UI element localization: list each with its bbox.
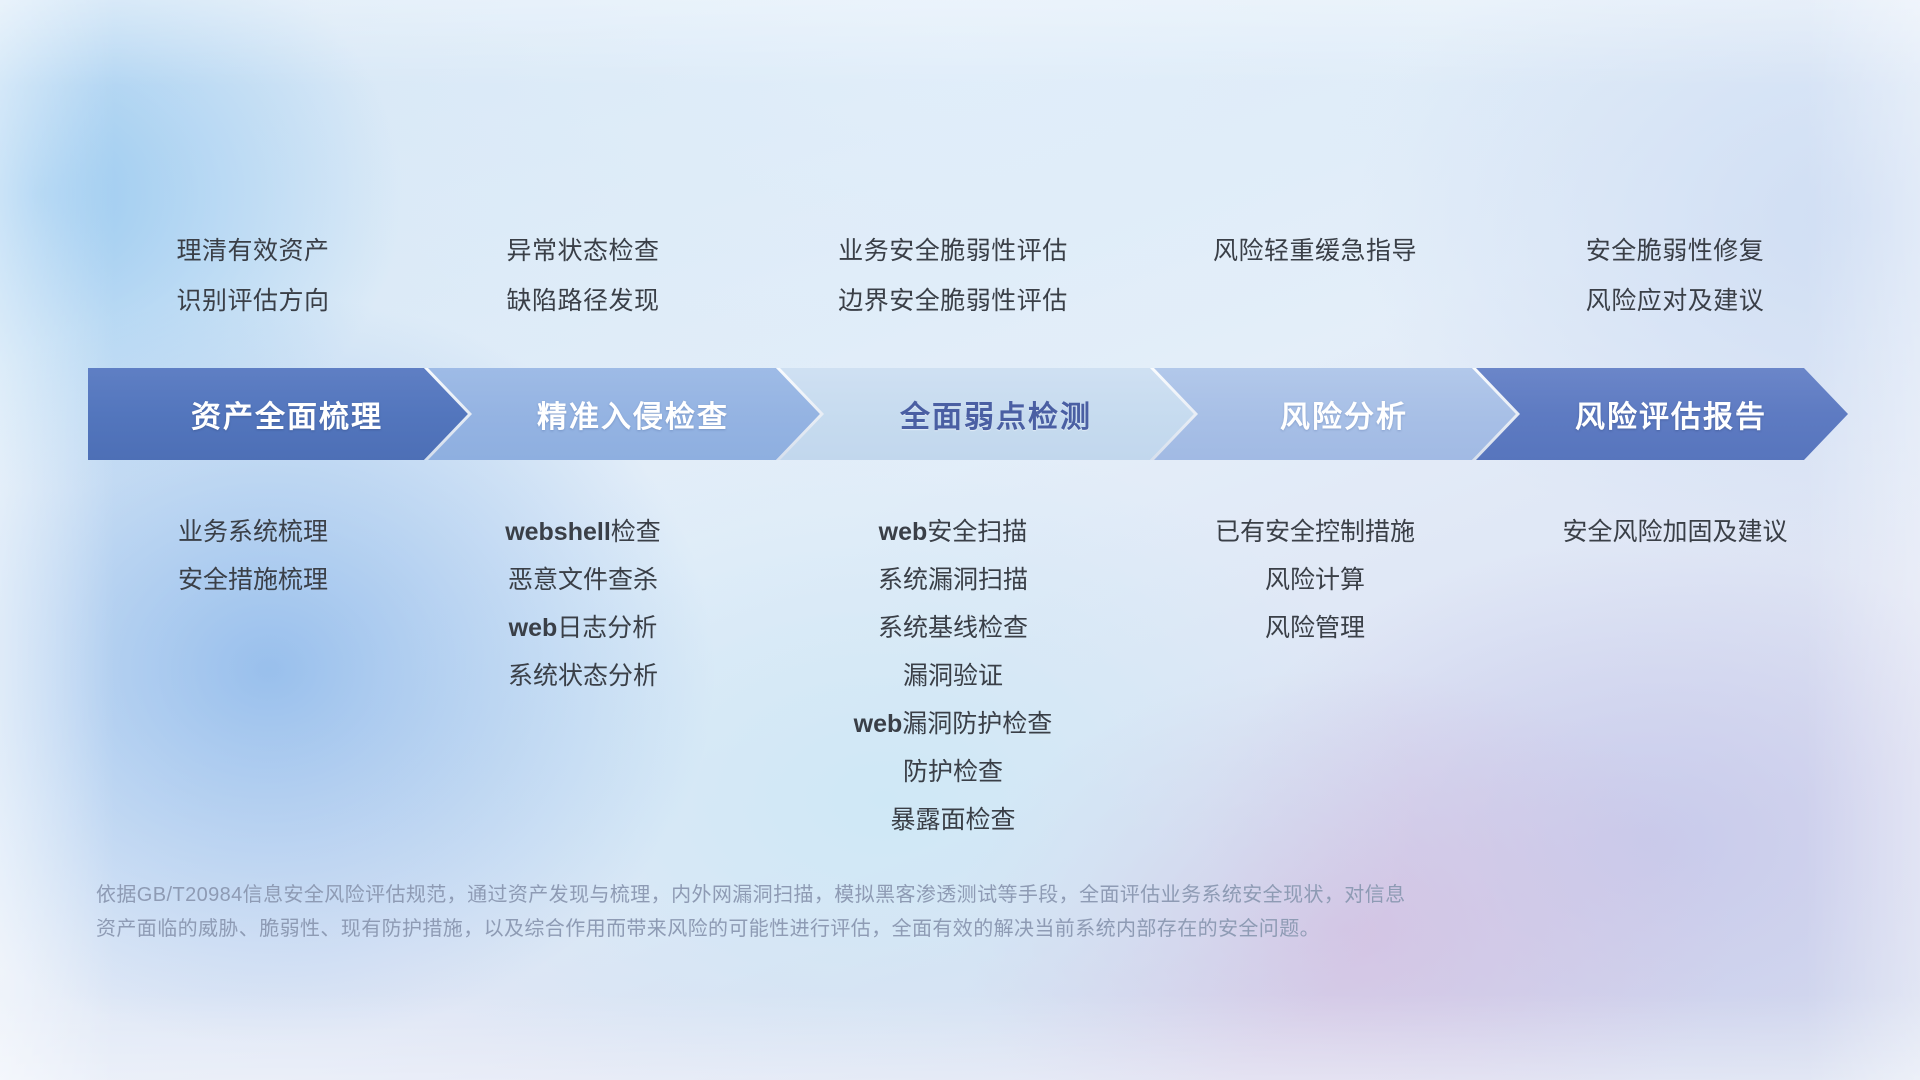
bottom-item-prefix: webshell	[505, 518, 611, 546]
bottom-items-3: web安全扫描系统漏洞扫描系统基线检查漏洞验证web漏洞防护检查防护检查暴露面检…	[763, 508, 1143, 844]
bottom-item: 业务系统梳理	[88, 508, 418, 556]
bottom-item: 风险计算	[1140, 556, 1490, 604]
bottom-items-5: 安全风险加固及建议	[1500, 508, 1850, 556]
slide-canvas: 理清有效资产识别评估方向 异常状态检查缺陷路径发现 业务安全脆弱性评估边界安全脆…	[0, 0, 1920, 1080]
bottom-item: 防护检查	[763, 748, 1143, 796]
bottom-item: 恶意文件查杀	[418, 556, 748, 604]
footer-line-1: 依据GB/T20984信息安全风险评估规范，通过资产发现与梳理，内外网漏洞扫描，…	[96, 878, 1836, 912]
bottom-items-2: webshell检查恶意文件查杀web日志分析系统状态分析	[418, 508, 748, 700]
bottom-item: 系统漏洞扫描	[763, 556, 1143, 604]
bottom-item: web漏洞防护检查	[763, 700, 1143, 748]
bottom-item: 漏洞验证	[763, 652, 1143, 700]
bottom-items-1: 业务系统梳理安全措施梳理	[88, 508, 418, 604]
bottom-item: 安全风险加固及建议	[1500, 508, 1850, 556]
footer-line-2: 资产面临的威胁、脆弱性、现有防护措施，以及综合作用而带来风险的可能性进行评估，全…	[96, 912, 1836, 946]
bottom-item-prefix: web	[854, 710, 903, 738]
bottom-item: web安全扫描	[763, 508, 1143, 556]
footer-description: 依据GB/T20984信息安全风险评估规范，通过资产发现与梳理，内外网漏洞扫描，…	[96, 878, 1836, 946]
bottom-item: 系统基线检查	[763, 604, 1143, 652]
bottom-item: 暴露面检查	[763, 796, 1143, 844]
bottom-item: 安全措施梳理	[88, 556, 418, 604]
bottom-items-4: 已有安全控制措施风险计算风险管理	[1140, 508, 1490, 652]
bottom-item-prefix: web	[879, 518, 928, 546]
bottom-item: web日志分析	[418, 604, 748, 652]
bottom-item-prefix: web	[509, 614, 558, 642]
bottom-item: webshell检查	[418, 508, 748, 556]
bottom-item: 系统状态分析	[418, 652, 748, 700]
bottom-item: 已有安全控制措施	[1140, 508, 1490, 556]
bottom-item: 风险管理	[1140, 604, 1490, 652]
